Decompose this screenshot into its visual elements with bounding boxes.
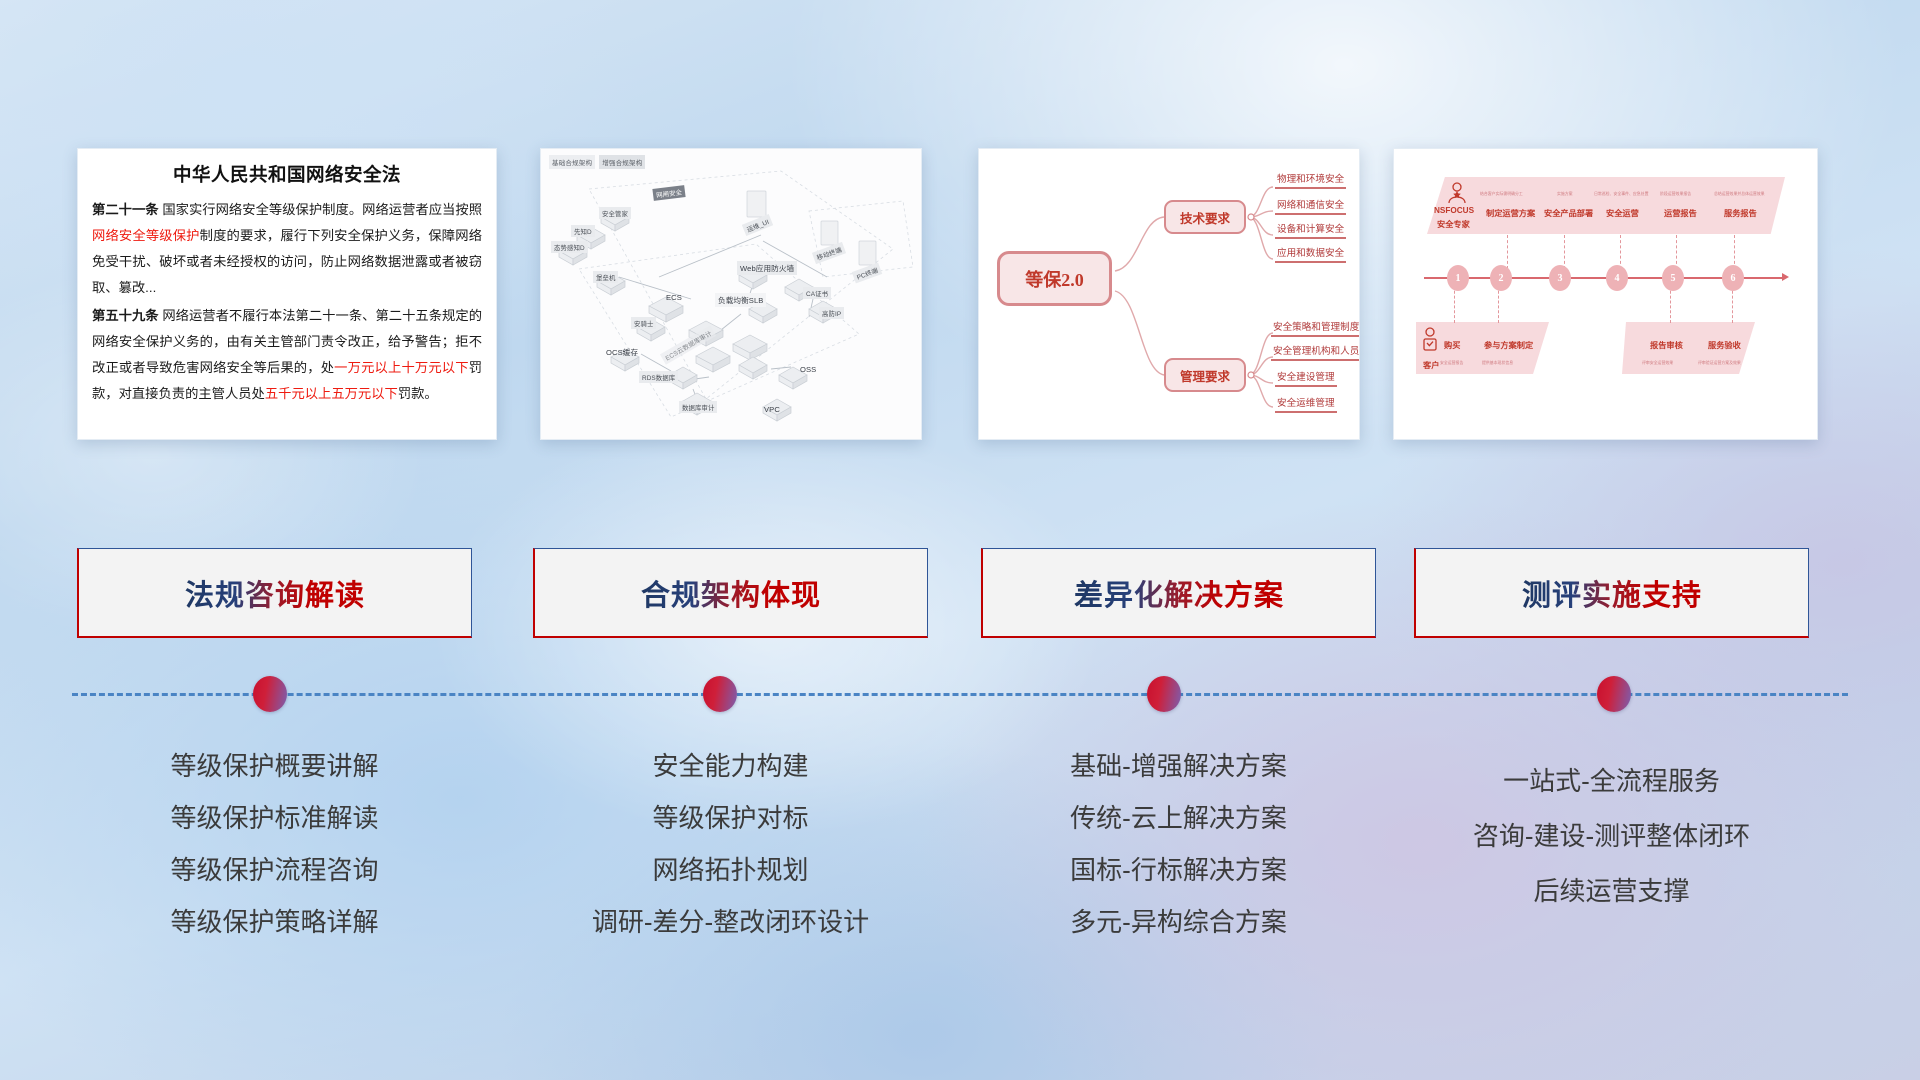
step-6-title: 服务报告: [1724, 207, 1757, 219]
heading-label-4: 测评实施支持: [1522, 572, 1702, 614]
customer-role-label: 客户: [1423, 359, 1439, 371]
leader-line-4: [1620, 235, 1621, 269]
list-item: 等级保护流程咨询: [77, 844, 472, 896]
expert-person-icon: [1446, 182, 1468, 206]
heading-box-differentiated-solution[interactable]: 差异化解决方案: [981, 548, 1376, 638]
detail-list-1: 等级保护概要讲解 等级保护标准解读 等级保护流程咨询 等级保护策略详解: [77, 740, 472, 948]
card-architecture-diagram: 基础合规架构 增强合规架构: [540, 148, 922, 440]
arch-node-bastion-host: 堡垒机: [593, 271, 618, 283]
list-item: 国标-行标解决方案: [981, 844, 1376, 896]
timeline-arrow-icon: [1782, 273, 1789, 281]
leader-line-5: [1676, 235, 1677, 269]
law-title: 中华人民共和国网络安全法: [92, 161, 482, 187]
list-item: 等级保护标准解读: [77, 792, 472, 844]
customer-step-4-title: 服务验收: [1708, 339, 1741, 351]
mindmap-leaf-tech-4: 应用和数据安全: [1275, 245, 1346, 263]
arch-node-ocs-cache: OCS缓存: [603, 345, 641, 359]
list-item: 后续运营支撑: [1414, 864, 1809, 919]
leader-line-2: [1507, 235, 1508, 269]
step-marker-3: 3: [1549, 265, 1571, 291]
arch-node-ecs: ECS: [663, 291, 685, 303]
detail-list-2: 安全能力构建 等级保护对标 网络拓扑规划 调研-差分-整改闭环设计: [533, 740, 928, 948]
list-item: 等级保护概要讲解: [77, 740, 472, 792]
step-2-title: 制定运营方案: [1486, 207, 1535, 219]
heading-box-assessment-support[interactable]: 测评实施支持: [1414, 548, 1809, 638]
article-59-highlight-1: 一万元以上十万元以下: [334, 360, 469, 375]
step-marker-5: 5: [1662, 265, 1684, 291]
mindmap-leaf-tech-2: 网络和通信安全: [1275, 197, 1346, 215]
list-item: 一站式-全流程服务: [1414, 754, 1809, 809]
mindmap-leaf-tech-3: 设备和计算安全: [1275, 221, 1346, 239]
timeline-bullet-4: [1597, 676, 1631, 712]
arch-node-database-audit: 数据库审计: [679, 401, 717, 413]
customer-step-2-sub: 提供基本现状信息: [1482, 360, 1513, 366]
customer-step-1-title: 购买: [1444, 339, 1460, 351]
mindmap-branch-management: 管理要求: [1164, 358, 1246, 392]
step-4-title: 安全运营: [1606, 207, 1639, 219]
step-marker-2: 2: [1490, 265, 1512, 291]
mindmap-branch-technical: 技术要求: [1164, 200, 1246, 234]
step-marker-1: 1: [1447, 265, 1469, 291]
step-3-sub: 实施方案: [1557, 191, 1573, 197]
leader-line-6: [1734, 235, 1735, 269]
timeline-bullet-1: [253, 676, 287, 712]
step-5-title: 运营报告: [1664, 207, 1697, 219]
list-item: 传统-云上解决方案: [981, 792, 1376, 844]
list-item: 安全能力构建: [533, 740, 928, 792]
arch-node-slb: 负载均衡SLB: [715, 293, 766, 307]
customer-step-2-title: 参与方案制定: [1484, 339, 1533, 351]
card-row: 中华人民共和国网络安全法 第二十一条 国家实行网络安全等级保护制度。网络运营者应…: [0, 148, 1920, 440]
heading-label-2: 合规架构体现: [641, 572, 821, 614]
leader-line-3: [1564, 235, 1565, 269]
list-item: 等级保护策略详解: [77, 896, 472, 948]
article-21-highlight: 网络安全等级保护: [92, 228, 200, 243]
timeline-dashed-line: [72, 693, 1848, 696]
arch-node-vpc: VPC: [761, 403, 783, 415]
step-6-sub: 总结运营效果并总体运营效果: [1714, 191, 1765, 197]
arch-node-waf: Web应用防火墙: [737, 261, 797, 275]
detail-list-3: 基础-增强解决方案 传统-云上解决方案 国标-行标解决方案 多元-异构综合方案: [981, 740, 1376, 948]
step-2-sub: 结合客户实际需明确分工: [1480, 191, 1523, 197]
timeline-bullet-2: [703, 676, 737, 712]
law-article-59: 第五十九条 网络运营者不履行本法第二十一条、第二十五条规定的网络安全保护义务的，…: [92, 303, 482, 407]
customer-step-4-sub: 评审验证运营方案及效果: [1698, 360, 1741, 366]
arch-node-anqishi: 安骑士: [631, 317, 656, 329]
list-item: 等级保护对标: [533, 792, 928, 844]
step-marker-4: 4: [1606, 265, 1628, 291]
expert-role-label: 安全专家: [1437, 218, 1470, 230]
arch-node-security-butler: 安全管家: [599, 207, 631, 219]
expert-band: [1427, 177, 1785, 234]
customer-person-icon: [1420, 327, 1440, 359]
mindmap-leaf-mgmt-4: 安全运维管理: [1275, 395, 1337, 413]
list-item: 网络拓扑规划: [533, 844, 928, 896]
list-item: 调研-差分-整改闭环设计: [533, 896, 928, 948]
heading-label-1: 法规咨询解读: [185, 572, 365, 614]
list-item: 基础-增强解决方案: [981, 740, 1376, 792]
arch-node-situation-awareness: 态势感知D: [551, 241, 588, 253]
architecture-canvas: 基础合规架构 增强合规架构: [541, 149, 921, 439]
article-59-text-c: 罚款。: [398, 386, 438, 401]
detail-list-4: 一站式-全流程服务 咨询-建设-测评整体闭环 后续运营支撑: [1414, 754, 1809, 919]
arch-node-oss: OSS: [797, 363, 819, 375]
customer-step-1-sub: 安全运营报告: [1440, 360, 1463, 366]
article-59-highlight-2: 五千元以上五万元以下: [265, 386, 398, 401]
timeline-canvas: NSFOCUS 安全专家 结合客户实际需明确分工 制定运营方案 实施方案 安全产…: [1394, 149, 1817, 439]
card-law-text: 中华人民共和国网络安全法 第二十一条 国家实行网络安全等级保护制度。网络运营者应…: [77, 148, 497, 440]
card-service-timeline: NSFOCUS 安全专家 结合客户实际需明确分工 制定运营方案 实施方案 安全产…: [1393, 148, 1818, 440]
step-3-title: 安全产品部署: [1544, 207, 1593, 219]
slide-page: 中华人民共和国网络安全法 第二十一条 国家实行网络安全等级保护制度。网络运营者应…: [0, 0, 1920, 1080]
customer-step-3-sub: 评审安全运营效果: [1642, 360, 1673, 366]
arch-node-rds-database: RDS数据库: [639, 371, 678, 383]
step-4-sub: 日常巡检、安全事件、应急处置: [1594, 191, 1648, 197]
heading-row: 法规咨询解读 合规架构体现 差异化解决方案 测评实施支持: [0, 548, 1920, 638]
arch-node-ca-certificate: CA证书: [803, 287, 831, 299]
mindmap-leaf-mgmt-3: 安全建设管理: [1275, 369, 1337, 387]
heading-label-3: 差异化解决方案: [1074, 572, 1284, 614]
mindmap-leaf-mgmt-1: 安全策略和管理制度: [1271, 319, 1360, 337]
mindmap-leaf-tech-1: 物理和环境安全: [1275, 171, 1346, 189]
list-item: 多元-异构综合方案: [981, 896, 1376, 948]
card-mindmap: 等保2.0 技术要求 管理要求 物理和环境安全 网络和通信安全 设备和计算安全 …: [978, 148, 1360, 440]
article-21-label: 第二十一条: [92, 202, 159, 217]
law-article-21: 第二十一条 国家实行网络安全等级保护制度。网络运营者应当按照网络安全等级保护制度…: [92, 197, 482, 301]
arch-node-anti-ddos-ip: 高防IP: [819, 307, 844, 319]
expert-brand-label: NSFOCUS: [1434, 206, 1474, 215]
timeline-bullet-3: [1147, 676, 1181, 712]
customer-step-3-title: 报告审核: [1650, 339, 1683, 351]
list-item: 咨询-建设-测评整体闭环: [1414, 809, 1809, 864]
article-21-text-a: 国家实行网络安全等级保护制度。网络运营者应当按照: [159, 202, 482, 217]
article-59-label: 第五十九条: [92, 308, 159, 323]
mindmap-root: 等保2.0: [997, 251, 1112, 306]
heading-box-regulation-consulting[interactable]: 法规咨询解读: [77, 548, 472, 638]
law-body: 中华人民共和国网络安全法 第二十一条 国家实行网络安全等级保护制度。网络运营者应…: [78, 149, 496, 415]
heading-box-compliance-architecture[interactable]: 合规架构体现: [533, 548, 928, 638]
mindmap-canvas: 等保2.0 技术要求 管理要求 物理和环境安全 网络和通信安全 设备和计算安全 …: [979, 149, 1359, 439]
mindmap-leaf-mgmt-2: 安全管理机构和人员: [1271, 343, 1360, 361]
step-5-sub: 阶段运营效果报告: [1660, 191, 1691, 197]
step-marker-6: 6: [1722, 265, 1744, 291]
arch-node-xianzhi: 先知D: [571, 225, 595, 237]
